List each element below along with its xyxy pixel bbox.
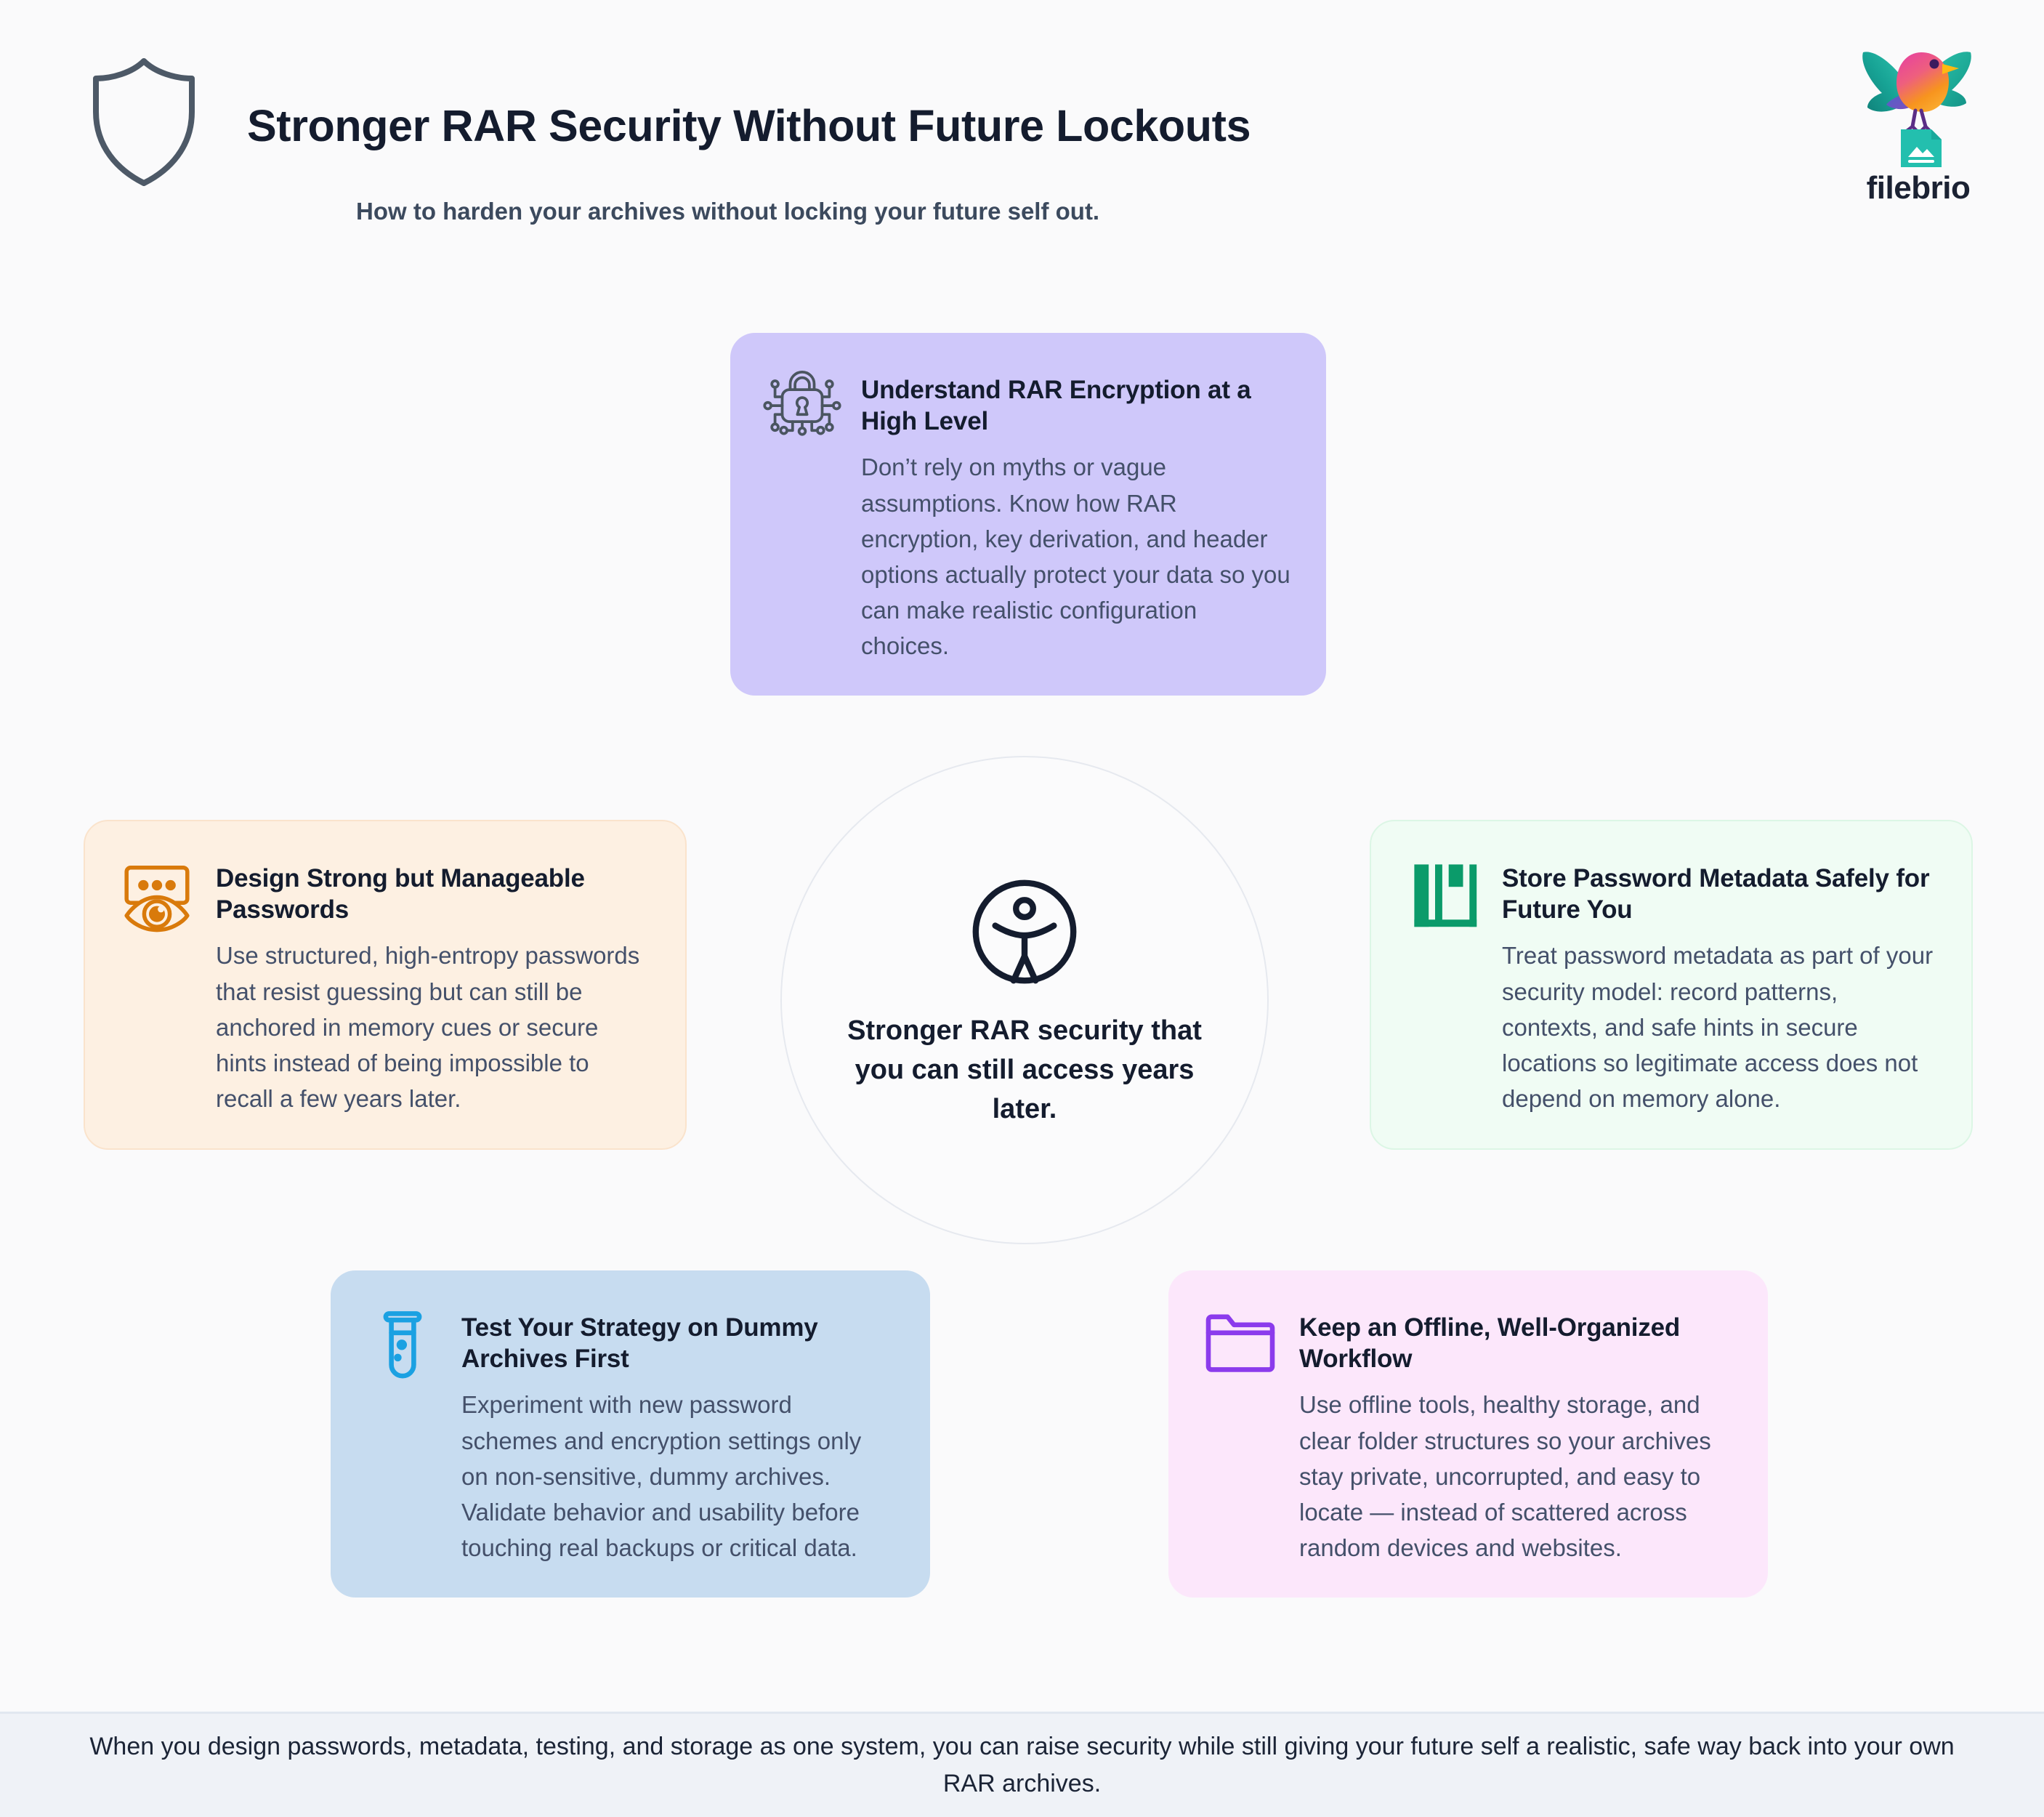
brand-logo: filebrio	[1838, 29, 1998, 225]
card-description: Use structured, high-entropy passwords t…	[216, 938, 650, 1116]
infographic-canvas: Stronger RAR Security Without Future Loc…	[0, 0, 2044, 1817]
page-title: Stronger RAR Security Without Future Loc…	[247, 100, 1251, 151]
center-hub-text: Stronger RAR security that you can still…	[843, 1012, 1206, 1129]
card-description: Treat password metadata as part of your …	[1502, 938, 1936, 1116]
card-description: Experiment with new password schemes and…	[461, 1387, 895, 1566]
card-title: Understand RAR Encryption at a High Leve…	[861, 375, 1291, 437]
card-body: Store Password Metadata Safely for Futur…	[1502, 853, 1936, 1116]
card-workflow: Keep an Offline, Well-Organized Workflow…	[1168, 1270, 1768, 1598]
page-subtitle: How to harden your archives without lock…	[356, 198, 1099, 225]
brand-wordmark: filebrio	[1838, 170, 1998, 206]
card-body: Understand RAR Encryption at a High Leve…	[861, 365, 1291, 664]
bird-on-file-logo-icon	[1846, 29, 1991, 174]
footer-banner: When you design passwords, metadata, tes…	[0, 1712, 2044, 1817]
card-body: Test Your Strategy on Dummy Archives Fir…	[461, 1302, 895, 1566]
card-metadata: Store Password Metadata Safely for Futur…	[1370, 820, 1973, 1150]
folder-icon	[1200, 1302, 1280, 1382]
card-title: Keep an Offline, Well-Organized Workflow	[1299, 1313, 1733, 1374]
card-encryption: Understand RAR Encryption at a High Leve…	[730, 333, 1326, 696]
card-passwords: Design Strong but Manageable Passwords U…	[84, 820, 687, 1150]
card-title: Test Your Strategy on Dummy Archives Fir…	[461, 1313, 895, 1374]
card-body: Keep an Offline, Well-Organized Workflow…	[1299, 1302, 1733, 1566]
password-field-eye-icon	[117, 853, 197, 933]
card-title: Store Password Metadata Safely for Futur…	[1502, 863, 1936, 925]
vault-archive-icon	[1403, 853, 1483, 933]
accessibility-person-icon	[964, 871, 1086, 993]
card-body: Design Strong but Manageable Passwords U…	[216, 853, 650, 1116]
card-testing: Test Your Strategy on Dummy Archives Fir…	[331, 1270, 930, 1598]
card-description: Use offline tools, healthy storage, and …	[1299, 1387, 1733, 1566]
shield-icon	[89, 57, 199, 188]
card-title: Design Strong but Manageable Passwords	[216, 863, 650, 925]
footer-text: When you design passwords, metadata, tes…	[70, 1728, 1974, 1802]
test-tube-icon	[363, 1302, 443, 1382]
center-hub: Stronger RAR security that you can still…	[780, 756, 1269, 1244]
card-description: Don’t rely on myths or vague assumptions…	[861, 449, 1291, 664]
lock-circuit-icon	[762, 365, 842, 445]
